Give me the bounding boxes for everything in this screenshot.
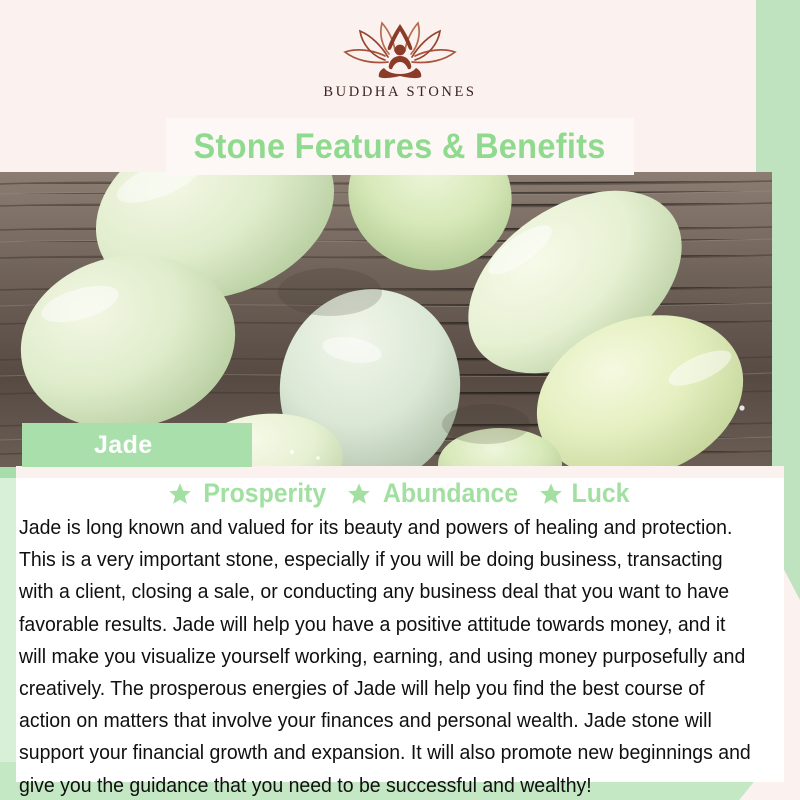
- keyword-item: Luck: [539, 478, 632, 509]
- keyword-label: Prosperity: [204, 478, 327, 509]
- brand-name: BUDDHA STONES: [323, 84, 476, 101]
- title-banner: Stone Features & Benefits: [166, 118, 634, 175]
- lotus-meditation-icon: [325, 18, 475, 80]
- stone-name-banner: Jade: [22, 423, 252, 467]
- keyword-label: Luck: [571, 478, 629, 509]
- keyword-label: Abundance: [383, 478, 518, 509]
- star-icon: [168, 482, 192, 506]
- star-icon: [347, 482, 371, 506]
- decorative-green-edge-left-lower: [0, 478, 16, 778]
- stone-name: Jade: [22, 431, 153, 460]
- panel-top-strip: [16, 466, 784, 478]
- infographic-page: BUDDHA STONES Stone Features & Benefits: [0, 0, 800, 800]
- keyword-item: Prosperity: [168, 478, 332, 509]
- stone-description: Jade is long known and valued for its be…: [19, 512, 752, 800]
- star-icon: [539, 482, 563, 506]
- page-title: Stone Features & Benefits: [194, 127, 606, 167]
- brand-header: BUDDHA STONES: [0, 0, 800, 120]
- keyword-item: Abundance: [347, 478, 524, 509]
- keyword-list: Prosperity Abundance Luck: [0, 478, 800, 509]
